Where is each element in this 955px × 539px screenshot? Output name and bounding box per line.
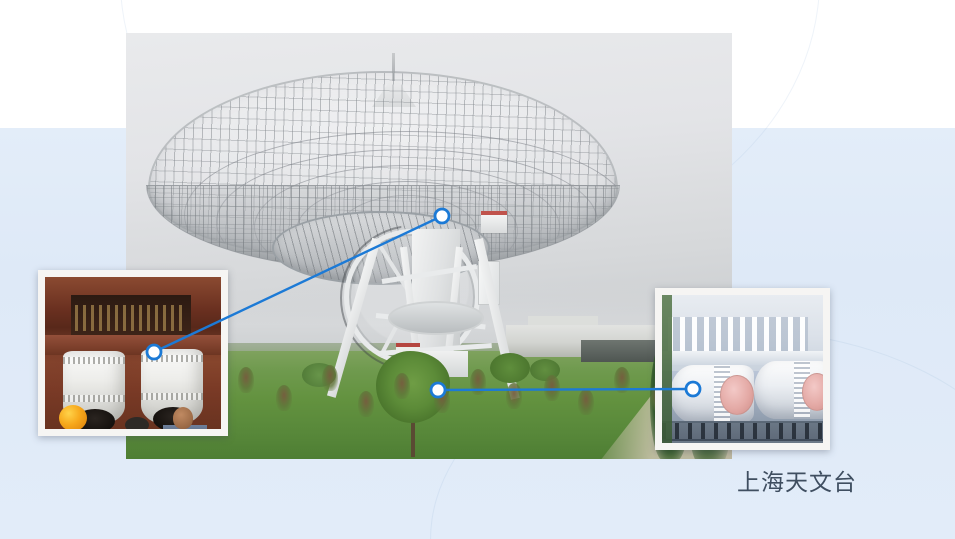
azimuth-drive-closeup-image bbox=[45, 277, 221, 429]
shrub bbox=[322, 365, 338, 391]
shrub bbox=[578, 389, 594, 415]
shrub bbox=[394, 373, 410, 399]
flange-band bbox=[63, 357, 125, 364]
anchor-bolts bbox=[662, 423, 823, 439]
shrub bbox=[358, 391, 374, 417]
elevation-drive-closeup-image bbox=[662, 295, 823, 443]
concrete-floor bbox=[662, 441, 823, 443]
shrub bbox=[544, 375, 560, 401]
inset-photo-left bbox=[38, 270, 228, 436]
gear-teeth bbox=[75, 305, 187, 331]
slide-caption: 上海天文台 bbox=[737, 468, 857, 498]
shrub bbox=[276, 385, 292, 411]
slide-canvas: 上海天文台 bbox=[0, 0, 955, 539]
vertical-struts bbox=[668, 317, 808, 351]
azimuth-bearing-hub bbox=[388, 301, 484, 335]
counterweight-box bbox=[481, 211, 507, 233]
dark-debris bbox=[125, 417, 149, 429]
inset-photo-right bbox=[655, 288, 830, 450]
shrub bbox=[614, 367, 630, 393]
shrub bbox=[506, 383, 522, 409]
flange-band bbox=[63, 395, 125, 402]
shrub bbox=[470, 369, 486, 395]
worker-head bbox=[173, 407, 193, 429]
flange-band bbox=[141, 355, 203, 362]
orange-helmet bbox=[59, 405, 87, 429]
foliage-edge bbox=[662, 295, 672, 443]
shrub bbox=[434, 387, 450, 413]
flange-band bbox=[141, 393, 203, 400]
pink-end-cap bbox=[720, 375, 754, 415]
shrub bbox=[238, 367, 254, 393]
